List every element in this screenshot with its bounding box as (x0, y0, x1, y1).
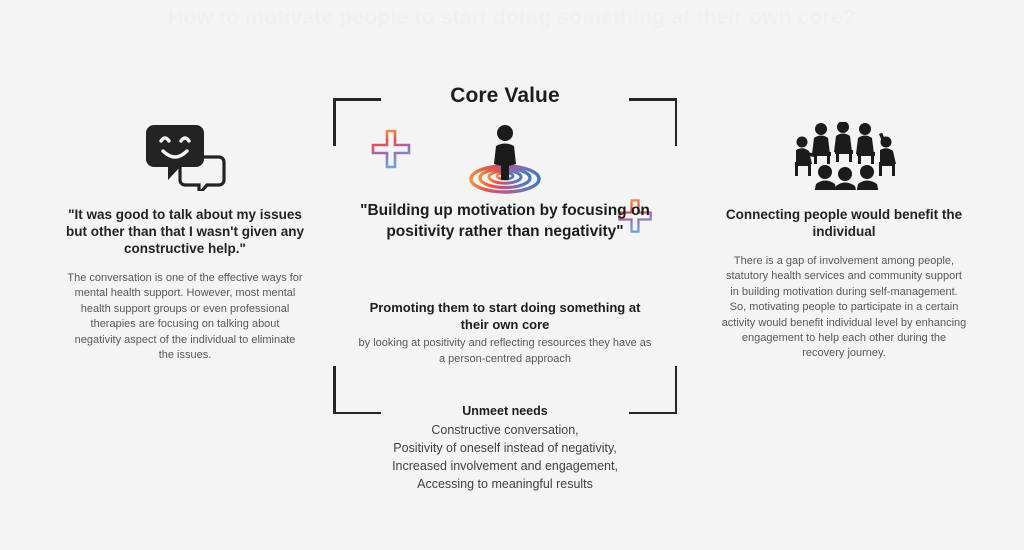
gradient-plus-icon (368, 126, 414, 172)
promote-block: Promoting them to start doing something … (355, 299, 655, 367)
promote-subtitle: by looking at positivity and reflecting … (355, 336, 655, 367)
core-quote: "Building up motivation by focusing on p… (360, 200, 650, 242)
page-title: Core Value (322, 84, 688, 108)
three-column-layout: "It was good to talk about my issues but… (0, 0, 1024, 550)
center-panel: Core Value (322, 0, 688, 550)
support-group-circle-icon (715, 118, 973, 194)
speech-bubbles-smiley-icon (60, 118, 310, 194)
left-column-title: "It was good to talk about my issues but… (60, 206, 310, 257)
unmeet-needs-list: Constructive conversation, Positivity of… (330, 421, 680, 493)
right-column-body: There is a gap of involvement among peop… (715, 254, 973, 362)
left-column-body: The conversation is one of the effective… (60, 271, 310, 363)
left-column: "It was good to talk about my issues but… (60, 118, 310, 363)
unmeet-needs-title: Unmeet needs (330, 403, 680, 420)
right-column: Connecting people would benefit the indi… (715, 118, 973, 362)
person-on-rings-icon (464, 122, 546, 196)
promote-title: Promoting them to start doing something … (355, 299, 655, 333)
right-column-title: Connecting people would benefit the indi… (715, 206, 973, 240)
unmeet-needs-block: Unmeet needs Constructive conversation, … (330, 403, 680, 493)
